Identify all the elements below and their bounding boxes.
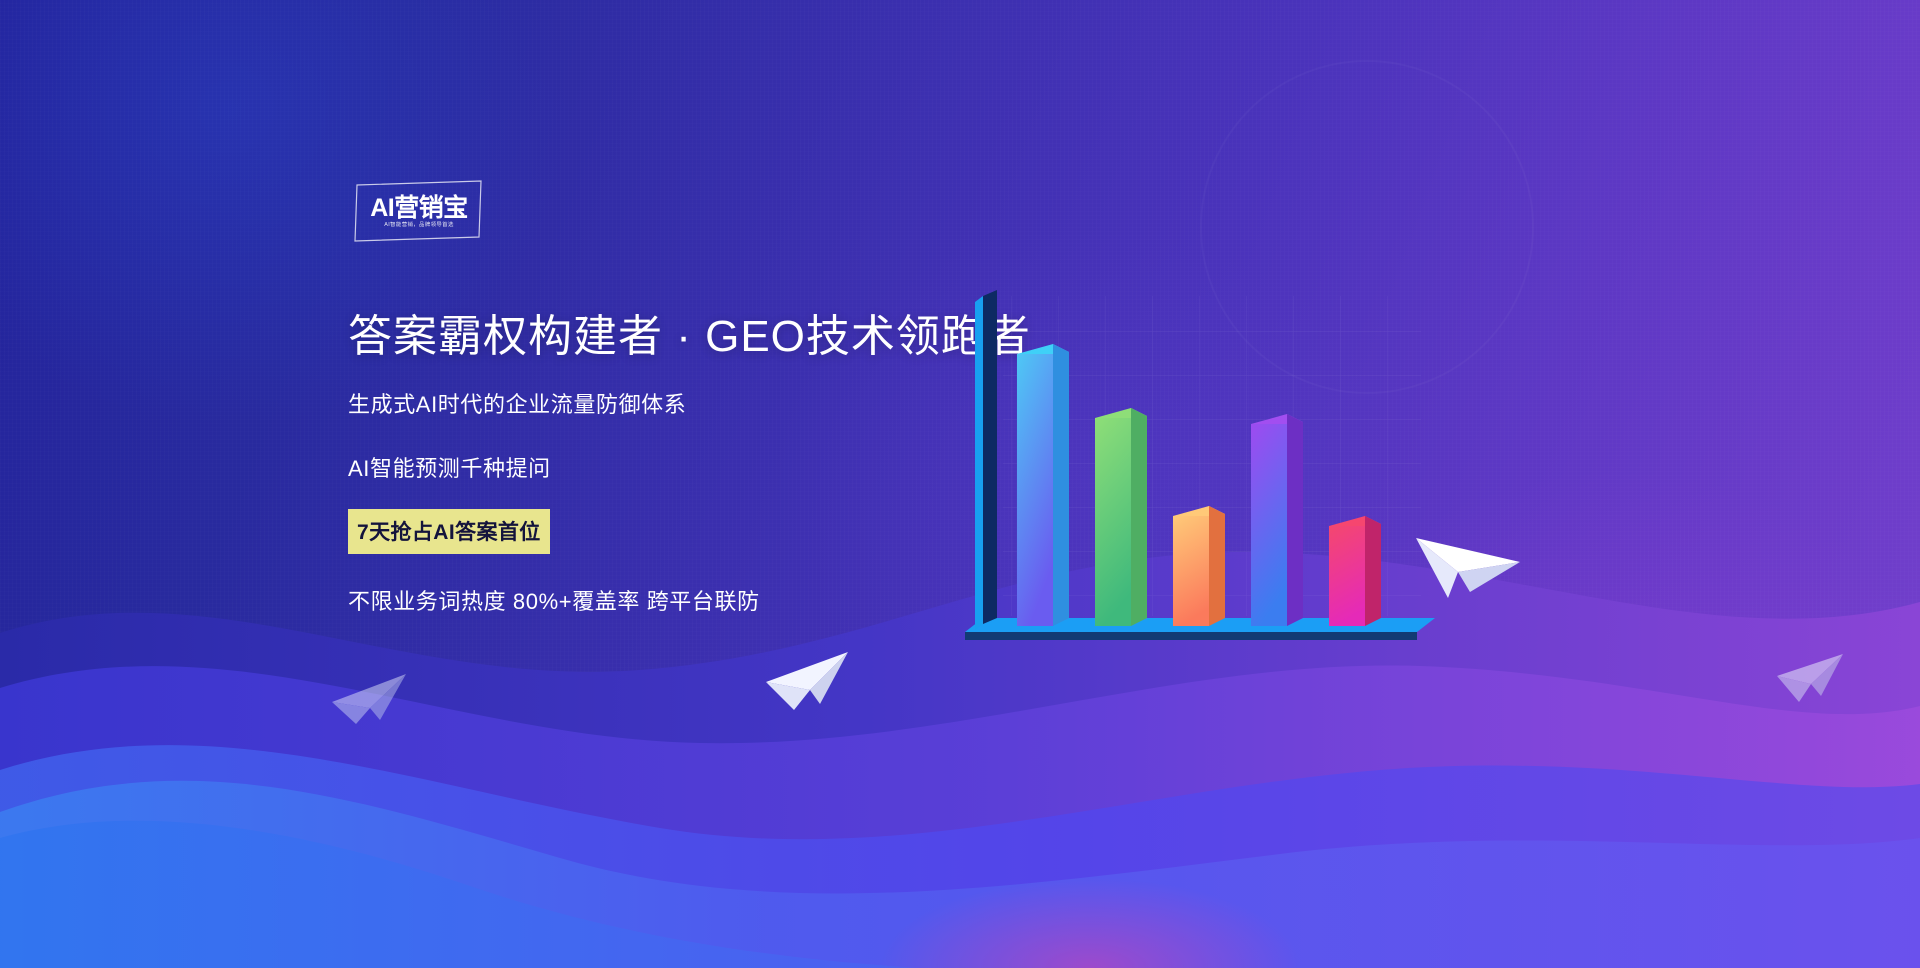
hero-highlight-badge: 7天抢占AI答案首位 <box>348 509 550 554</box>
chart-bar-1 <box>1017 344 1069 626</box>
chart-bar-2 <box>1095 408 1147 626</box>
paper-plane-icon <box>330 668 410 728</box>
brand-logo[interactable]: AI营销宝 AI智能营销，品牌领导首选 <box>354 180 484 242</box>
chart-yaxis-front <box>975 296 983 630</box>
paper-plane-icon <box>1412 516 1522 604</box>
chart-base-front <box>965 632 1417 640</box>
bar-chart-illustration <box>965 288 1435 668</box>
chart-bar-4 <box>1251 414 1303 626</box>
chart-yaxis-side <box>983 290 997 624</box>
paper-plane-icon <box>1775 650 1847 706</box>
paper-plane-icon <box>764 648 854 718</box>
logo-tagline: AI智能营销，品牌领导首选 <box>355 220 482 228</box>
logo-wordmark: AI营销宝 <box>354 188 484 224</box>
hero-banner: AI营销宝 AI智能营销，品牌领导首选 答案霸权构建者 · GEO技术领跑者 生… <box>0 0 1920 968</box>
chart-bar-3 <box>1173 506 1225 626</box>
chart-bar-5 <box>1329 516 1381 626</box>
